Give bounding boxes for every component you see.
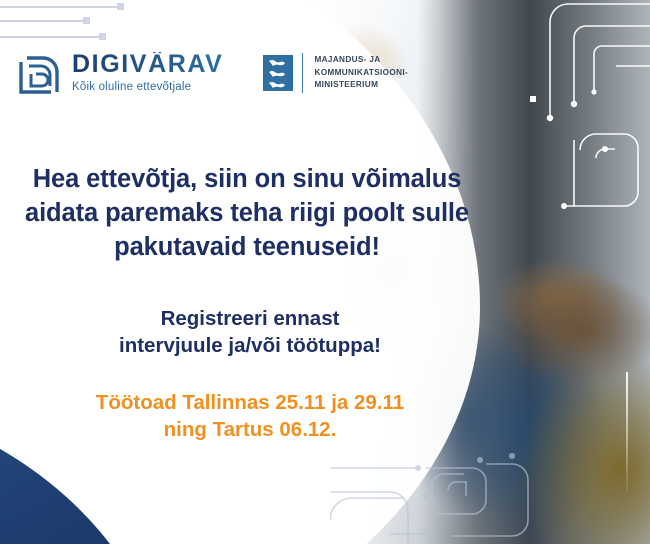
dates-line-2: ning Tartus 06.12. bbox=[0, 416, 500, 443]
cta-line-2: intervjuule ja/või töötuppa! bbox=[0, 332, 500, 359]
digivarav-logo[interactable]: DIGIVÄRAV Kõik oluline ettevõtjale bbox=[17, 50, 223, 96]
headline-line-2: aidata paremaks teha riigi poolt sulle bbox=[0, 197, 494, 231]
logo-row: DIGIVÄRAV Kõik oluline ettevõtjale Majan… bbox=[17, 50, 408, 96]
estonia-coat-of-arms-icon bbox=[263, 55, 293, 91]
headline-line-3: pakutavaid teenuseid! bbox=[0, 231, 494, 265]
ministry-name: Majandus- ja Kommunikatsiooni- Ministeer… bbox=[314, 54, 408, 92]
digivarav-tagline: Kõik oluline ettevõtjale bbox=[72, 82, 223, 94]
ministry-line-3: Ministeerium bbox=[314, 79, 408, 92]
cta-line-1: Registreeri ennast bbox=[0, 305, 500, 332]
ministry-line-1: Majandus- ja bbox=[314, 54, 408, 67]
call-to-action: Registreeri ennast intervjuule ja/või tö… bbox=[0, 305, 500, 359]
digivarav-wordmark: DIGIVÄRAV bbox=[72, 52, 223, 77]
decor-lines bbox=[0, 0, 180, 50]
digivarav-mark-icon bbox=[17, 50, 61, 96]
dates-line-1: Töötoad Tallinnas 25.11 ja 29.11 bbox=[0, 389, 500, 416]
ministry-divider bbox=[302, 53, 303, 93]
headline-line-1: Hea ettevõtja, siin on sinu võimalus bbox=[0, 163, 494, 197]
headline: Hea ettevõtja, siin on sinu võimalus aid… bbox=[0, 163, 494, 265]
promo-poster: DIGIVÄRAV Kõik oluline ettevõtjale Majan… bbox=[0, 0, 650, 544]
workshop-dates: Töötoad Tallinnas 25.11 ja 29.11 ning Ta… bbox=[0, 389, 500, 444]
ministry-line-2: Kommunikatsiooni- bbox=[314, 67, 408, 80]
ministry-logo[interactable]: Majandus- ja Kommunikatsiooni- Ministeer… bbox=[263, 53, 408, 93]
